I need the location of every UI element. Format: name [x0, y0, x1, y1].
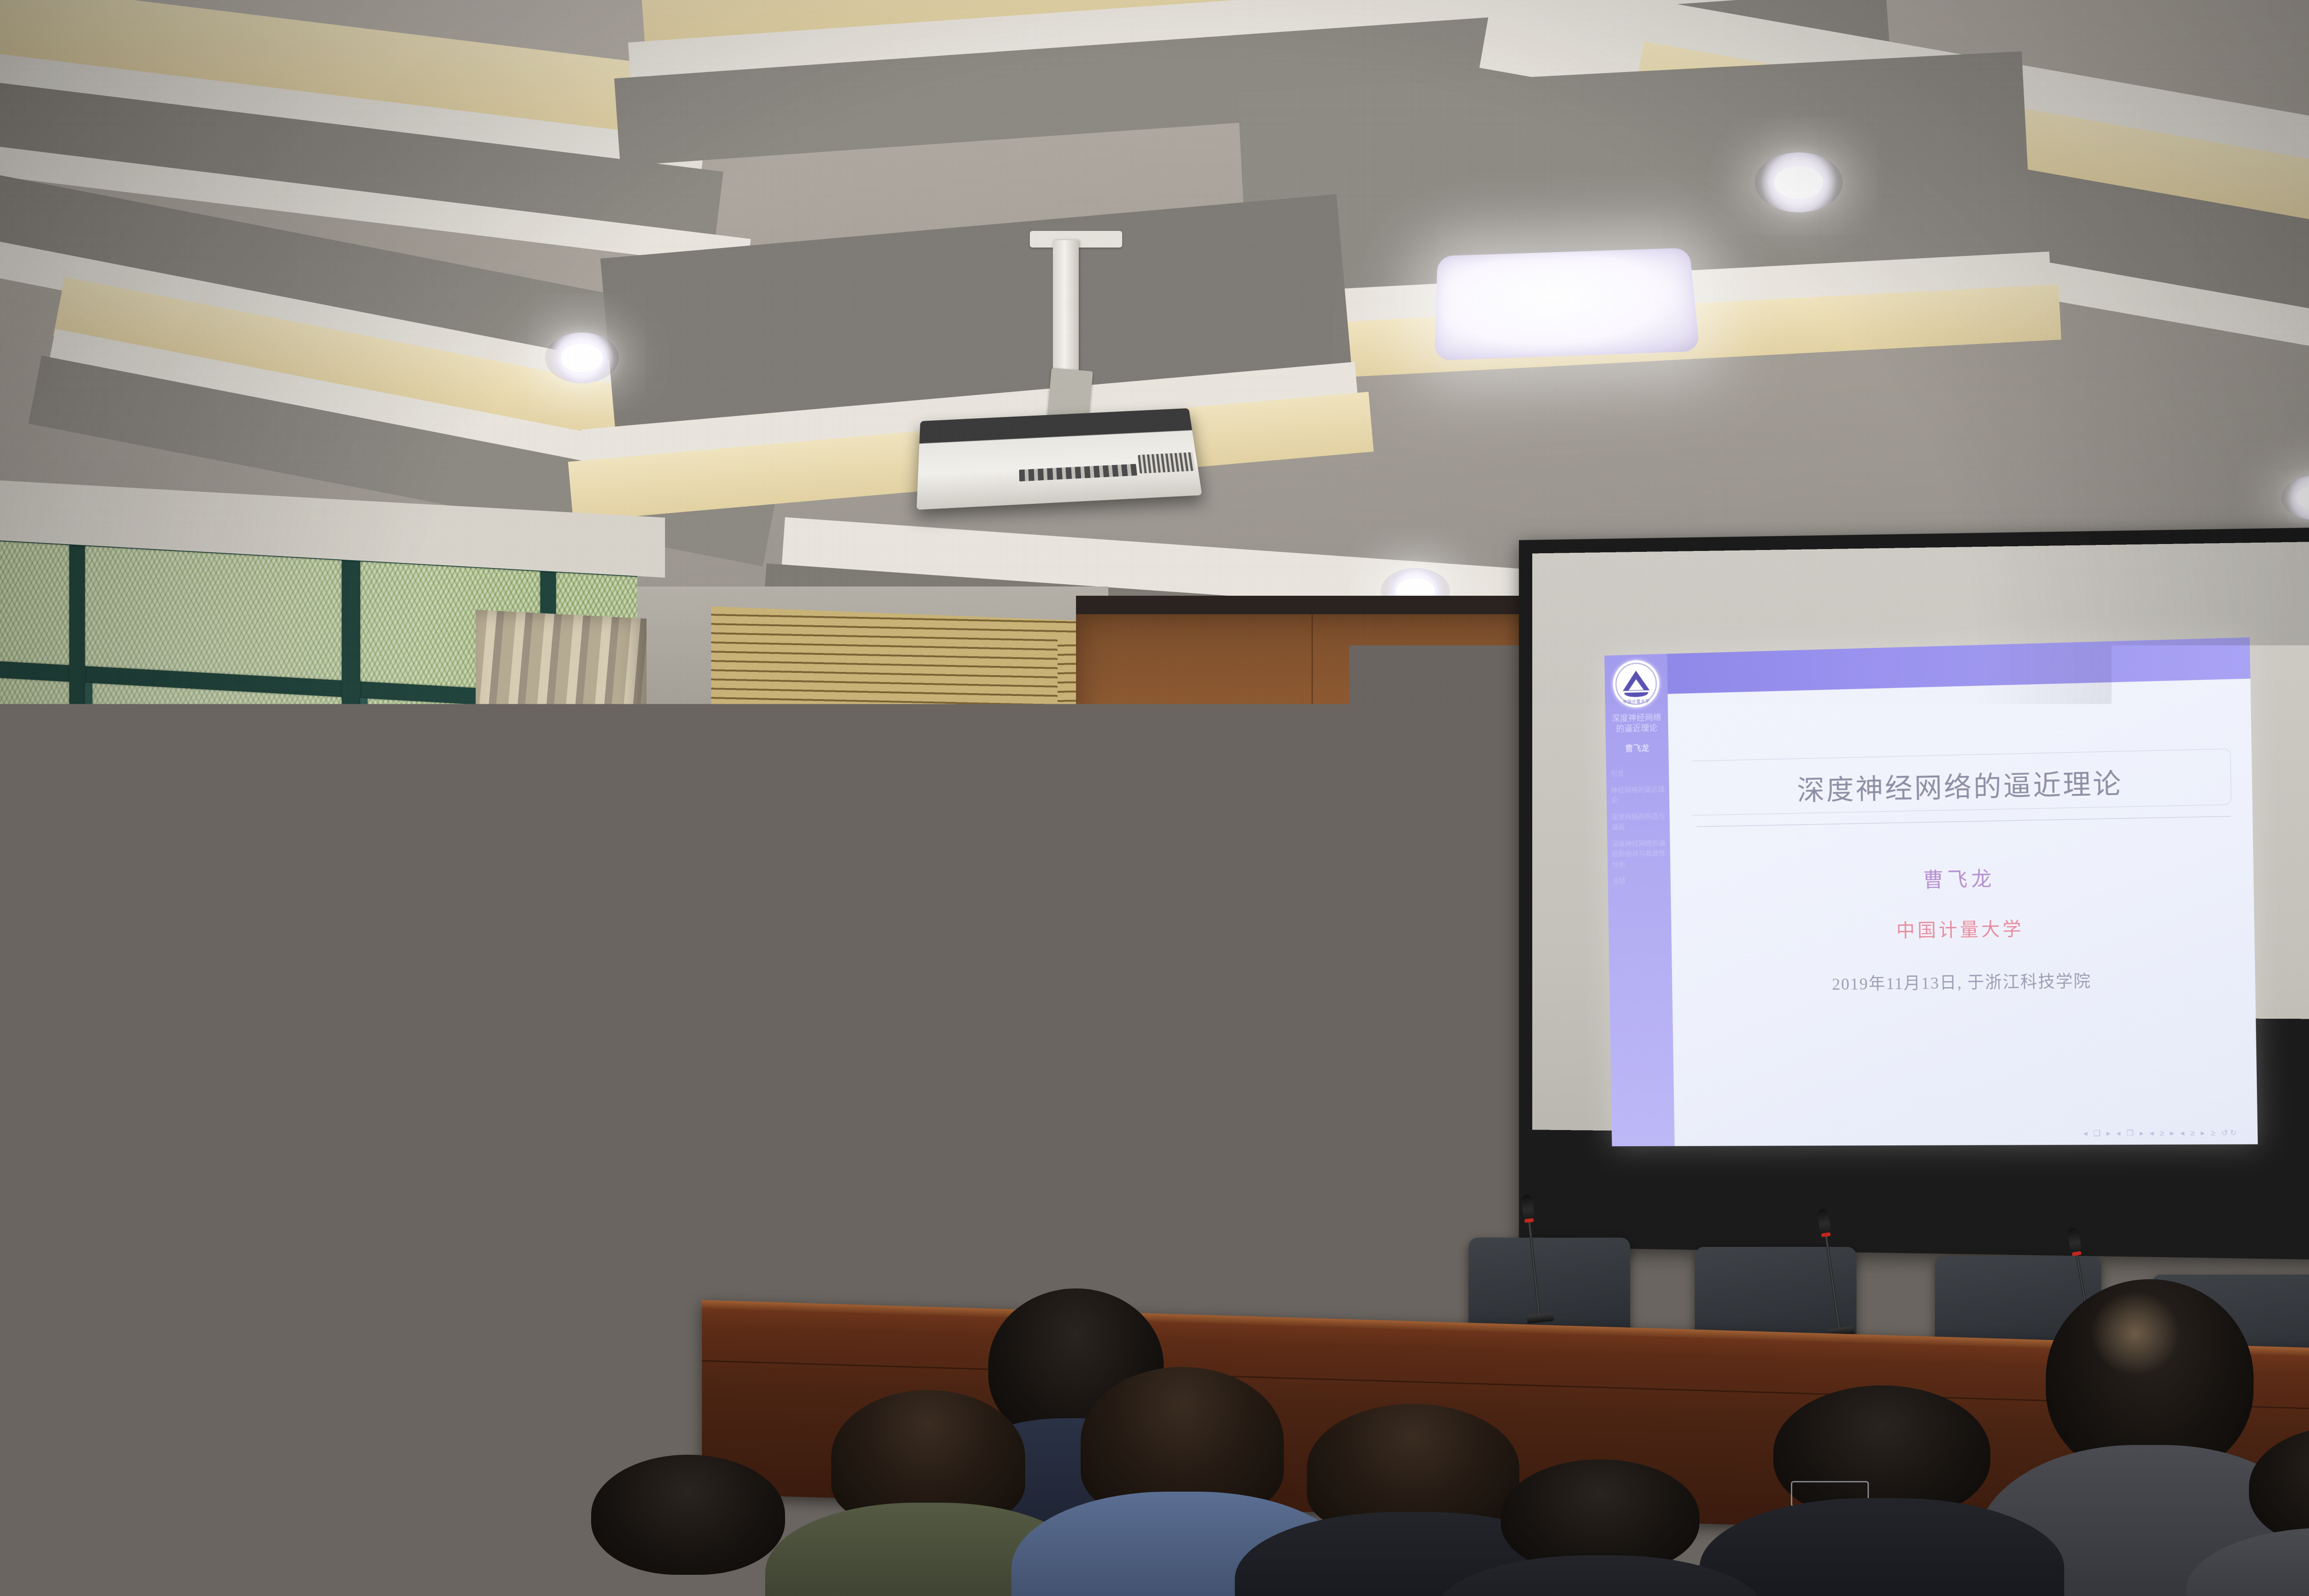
slide-title-rule: [1697, 816, 2230, 827]
audience-desk-center: [623, 1497, 1316, 1596]
glasses-lens-right: [555, 1093, 584, 1108]
square-panel-light: [1434, 248, 1700, 360]
projector-mount-pole: [1053, 240, 1079, 388]
ceramic-mug[interactable]: 中国 计量 大学: [286, 1378, 332, 1448]
lecture-hall-photograph: 深度神经网络的逼近理论 曹飞龙 引言 神经网络的逼近理论 深度网络的构造与逼近 …: [0, 0, 2309, 1596]
audience-hair-highlight: [2091, 1292, 2179, 1375]
presenter: [462, 1053, 647, 1469]
projected-slide: 深度神经网络的逼近理论 曹飞龙 引言 神经网络的逼近理论 深度网络的构造与逼近 …: [1604, 637, 2258, 1146]
downlight-bulb: [561, 344, 603, 372]
slide-navigation-symbols[interactable]: ◂ ❑ ▸ ◂ ❐ ▸ ◂ ≥ ▸ ◂ ≥ ▸ ≥ ↺↻: [2083, 1128, 2238, 1138]
mic-indicator-ring: [1002, 1200, 1012, 1204]
panel-seam-horizontal: [1076, 989, 1547, 990]
downlight-bulb: [1774, 166, 1823, 199]
glasses-lens-left: [510, 1093, 538, 1108]
bottle-cap: [25, 1385, 55, 1403]
presenter-belt: [531, 1330, 586, 1341]
university-emblem-icon: 中国计量大学: [1613, 659, 1660, 708]
slide-date-line: 2019年11月13日, 于浙江科技学院: [1694, 966, 2234, 996]
mug-text: 中国 计量 大学: [286, 1392, 332, 1400]
outline-item-3[interactable]: 深度神经网络的逼近阶估计与收敛性分析: [1612, 838, 1667, 870]
slide-sidebar-outline: 引言 神经网络的逼近理论 深度网络的构造与逼近 深度神经网络的逼近阶估计与收敛性…: [1611, 768, 1667, 893]
outline-item-0[interactable]: 引言: [1611, 768, 1666, 780]
presenter-hand-right: [562, 1224, 607, 1278]
slide-author: 曹飞龙: [1693, 858, 2233, 897]
audience-member-10: [1773, 1385, 1990, 1596]
audience-member-11: [1501, 1459, 1699, 1596]
belt-buckle: [550, 1331, 566, 1340]
recessed-downlight-2: [1755, 152, 1843, 212]
outline-item-2[interactable]: 深度网络的构造与逼近: [1611, 811, 1666, 833]
window-handle[interactable]: [60, 895, 84, 903]
downlight-bulb: [2297, 485, 2309, 510]
presenter-glasses-icon: [510, 1093, 584, 1108]
slide-sidebar-author: 曹飞龙: [1608, 741, 1666, 755]
window-sash-1: [85, 683, 92, 1200]
projector-vent: [1138, 452, 1196, 473]
glasses-bridge: [538, 1099, 555, 1100]
window-sash-2: [360, 698, 368, 1216]
slide-affiliation: 中国计量大学: [1693, 911, 2233, 945]
recessed-downlight-1: [545, 332, 619, 383]
laptop-indicator-dot-icon: [827, 1262, 833, 1268]
outline-item-4[interactable]: 总结: [1612, 876, 1667, 887]
audience-member-12: [2249, 1427, 2309, 1596]
slide-sidebar: 深度神经网络的逼近理论 曹飞龙 引言 神经网络的逼近理论 深度网络的构造与逼近 …: [1604, 654, 1674, 1146]
projector-ports: [1019, 464, 1137, 481]
presenter-name-badge-lanyard: [529, 1376, 539, 1409]
presenter-hand-left: [501, 1191, 543, 1245]
slide-sidebar-title: 深度神经网络的逼近理论: [1608, 712, 1666, 734]
emblem-caption: 中国计量大学: [1613, 698, 1660, 705]
ceiling-mounted-projector: [917, 408, 1202, 510]
outline-item-1[interactable]: 神经网络的逼近理论: [1611, 785, 1666, 806]
emblem-triangle-inner-icon: [1628, 679, 1644, 690]
audience-member-7: [1307, 1404, 1519, 1596]
